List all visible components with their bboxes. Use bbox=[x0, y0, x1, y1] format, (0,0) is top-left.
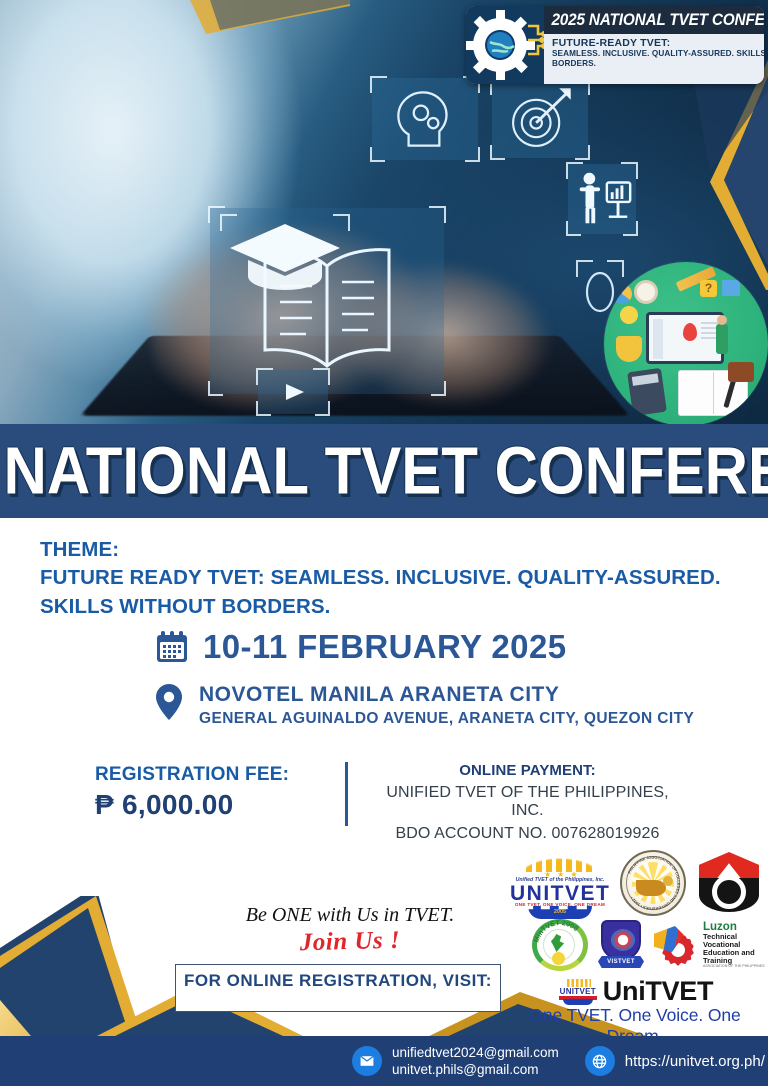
website-url[interactable]: https://unitvet.org.ph/ bbox=[625, 1053, 765, 1070]
globe-icon bbox=[585, 1046, 615, 1076]
elearning-illustration: ? bbox=[604, 262, 768, 424]
red-arch-logo bbox=[696, 852, 762, 914]
payment-account-name: UNIFIED TVET OF THE PHILIPPINES, INC. bbox=[374, 784, 681, 820]
email-group: unifiedtvet2024@gmail.com unitvet.phils@… bbox=[352, 1044, 559, 1079]
briefcase-icon bbox=[728, 362, 754, 382]
registration-fee-label: REGISTRATION FEE: bbox=[95, 764, 345, 786]
clock-icon bbox=[634, 280, 658, 304]
svg-text:PHILIPPINE ASSOCIATION OF COLL: PHILIPPINE ASSOCIATION OF COLLEGES AND U… bbox=[628, 856, 681, 911]
luzon-line-1: Luzon bbox=[703, 921, 737, 933]
svg-text:MinTVET 2000: MinTVET 2000 bbox=[533, 920, 579, 944]
trophy-icon bbox=[616, 336, 642, 362]
head-with-gears-icon bbox=[372, 78, 478, 160]
banner-tagline-label: FUTURE-READY TVET: bbox=[552, 37, 764, 49]
theme-line-2: SKILLS WITHOUT BORDERS. bbox=[40, 593, 740, 621]
unitvet-brand-name: UniTVET bbox=[603, 976, 713, 1007]
calendar-icon bbox=[155, 630, 189, 664]
logo-row-2: MinTVET 2000 VISTVET Luzon Technic bbox=[532, 918, 765, 972]
event-date: 10-11 FEBRUARY 2025 bbox=[203, 628, 566, 666]
event-venue-row: NOVOTEL MANILA ARANETA CITY GENERAL AGUI… bbox=[155, 682, 694, 728]
conference-poster: ? bbox=[0, 0, 768, 1086]
registration-box-label: FOR ONLINE REGISTRATION, VISIT: bbox=[176, 971, 500, 991]
pacu-seal-logo: PHILIPPINE ASSOCIATION OF COLLEGES AND U… bbox=[620, 850, 686, 916]
online-registration-box[interactable]: FOR ONLINE REGISTRATION, VISIT: bbox=[175, 964, 501, 1012]
cta-tagline: Be ONE with Us in TVET. bbox=[205, 904, 495, 927]
online-payment-label: ONLINE PAYMENT: bbox=[374, 762, 681, 779]
envelope-icon bbox=[352, 1046, 382, 1076]
contact-footer: unifiedtvet2024@gmail.com unitvet.phils@… bbox=[0, 1036, 768, 1086]
monitor-icon bbox=[646, 312, 724, 364]
email-secondary[interactable]: unitvet.phils@gmail.com bbox=[392, 1061, 559, 1078]
registration-fee-block: REGISTRATION FEE: ₱ 6,000.00 bbox=[95, 762, 345, 843]
play-button-icon bbox=[258, 370, 328, 414]
banner-tagline-body: SEAMLESS. INCLUSIVE. QUALITY-ASSURED. SK… bbox=[552, 49, 764, 69]
seal-text-ring: PHILIPPINE ASSOCIATION OF COLLEGES AND U… bbox=[622, 852, 684, 914]
unitvet-logo: ★★★ Unified TVET of the Philippines, Inc… bbox=[510, 850, 610, 916]
vistvet-logo: VISTVET bbox=[596, 918, 646, 972]
pie-chart-icon bbox=[612, 284, 632, 304]
target-with-arrow-icon bbox=[492, 80, 588, 158]
poster-body: THEME: FUTURE READY TVET: SEAMLESS. INCL… bbox=[0, 518, 768, 1086]
vistvet-name: VISTVET bbox=[598, 956, 644, 968]
registration-fee-amount: ₱ 6,000.00 bbox=[95, 789, 345, 821]
hero-photo: ? bbox=[0, 0, 768, 424]
location-pin-icon bbox=[155, 684, 183, 720]
unitvet-motto: ONE TVET. ONE VOICE. ONE DREAM bbox=[510, 902, 610, 907]
mintvet-text: MinTVET 2000 bbox=[532, 919, 588, 971]
call-to-action-block: Be ONE with Us in TVET. Join Us ! bbox=[205, 904, 495, 956]
luzon-tvet-logo: Luzon Technical Vocational Education and… bbox=[654, 921, 765, 970]
book-icon bbox=[722, 280, 740, 296]
venue-address: GENERAL AGUINALDO AVENUE, ARANETA CITY, … bbox=[199, 710, 694, 728]
lightbulb-icon bbox=[620, 306, 638, 324]
cta-join-us: Join Us ! bbox=[205, 924, 496, 960]
unitvet-small-logo: UNITVET bbox=[557, 979, 599, 1005]
graduation-cap-icon bbox=[222, 216, 348, 294]
conference-banner-logo: 2025 NATIONAL TVET CONFERENCE FUTURE-REA… bbox=[466, 6, 764, 84]
gear-globe-icon bbox=[466, 6, 544, 84]
page-title: 2025 NATIONAL TVET CONFERENCE bbox=[0, 437, 768, 504]
email-primary[interactable]: unifiedtvet2024@gmail.com bbox=[392, 1044, 559, 1061]
balloon-icon bbox=[683, 323, 697, 341]
sun-rays-icon bbox=[526, 850, 594, 872]
vertical-divider bbox=[345, 762, 348, 826]
event-date-row: 10-11 FEBRUARY 2025 bbox=[155, 628, 566, 666]
online-payment-block: ONLINE PAYMENT: UNIFIED TVET OF THE PHIL… bbox=[374, 762, 695, 843]
luzon-gear-flag-icon bbox=[654, 922, 700, 968]
venue-name: NOVOTEL MANILA ARANETA CITY bbox=[199, 682, 694, 707]
teacher-figure bbox=[716, 324, 728, 354]
theme-line-1: FUTURE READY TVET: SEAMLESS. INCLUSIVE. … bbox=[40, 564, 740, 592]
calculator-icon bbox=[627, 368, 667, 416]
mintvet-logo: MinTVET 2000 bbox=[532, 919, 588, 971]
presenter-with-chart-icon bbox=[568, 164, 636, 234]
main-title-band: 2025 NATIONAL TVET CONFERENCE bbox=[0, 424, 768, 518]
banner-title: 2025 NATIONAL TVET CONFERENCE bbox=[544, 6, 764, 34]
question-mark-icon: ? bbox=[700, 280, 717, 297]
logo-row-1: ★★★ Unified TVET of the Philippines, Inc… bbox=[510, 850, 762, 916]
fee-and-payment-row: REGISTRATION FEE: ₱ 6,000.00 ONLINE PAYM… bbox=[95, 762, 695, 843]
payment-account-number: BDO ACCOUNT NO. 007628019926 bbox=[374, 825, 681, 843]
theme-label: THEME: bbox=[40, 536, 740, 564]
luzon-line-6: ASSOCIATION OF THE PHILIPPINES bbox=[703, 965, 765, 969]
theme-block: THEME: FUTURE READY TVET: SEAMLESS. INCL… bbox=[40, 536, 740, 621]
unitvet-year: 2005 bbox=[510, 909, 610, 915]
website-group: https://unitvet.org.ph/ bbox=[585, 1046, 765, 1076]
partner-logos: ★★★ Unified TVET of the Philippines, Inc… bbox=[500, 850, 768, 1040]
